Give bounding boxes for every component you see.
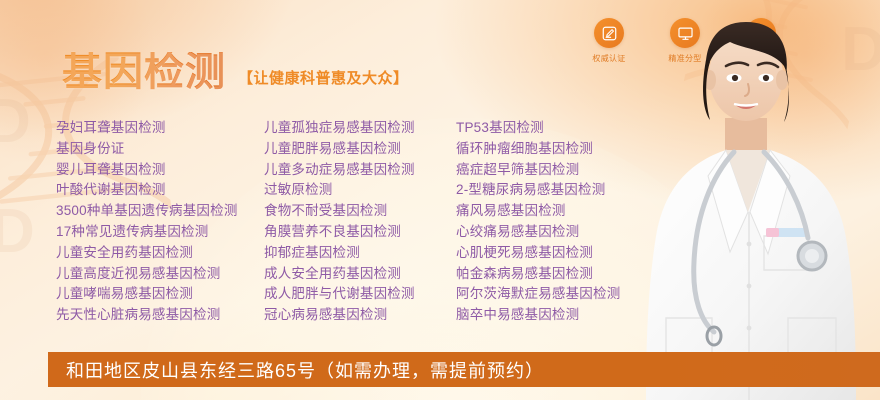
monitor-screen-icon	[670, 18, 700, 48]
list-item: 成人肥胖与代谢基因检测	[264, 284, 456, 305]
feature-badge-selfcheck[interactable]: 轻松自检	[734, 18, 788, 64]
list-item: 抑郁症基因检测	[264, 243, 456, 264]
list-item: 脑卒中易感基因检测	[456, 305, 686, 326]
list-item: 心绞痛易感基因检测	[456, 222, 686, 243]
list-item: 先天性心脏病易感基因检测	[56, 305, 264, 326]
test-item-columns: 孕妇耳聋基因检测 基因身份证 婴儿耳聋基因检测 叶酸代谢基因检测 3500种单基…	[56, 118, 686, 326]
page-title: 基因检测	[62, 52, 226, 92]
list-item: 痛风易感基因检测	[456, 201, 686, 222]
list-item: 阿尔茨海默症易感基因检测	[456, 284, 686, 305]
list-item: 冠心病易感基因检测	[264, 305, 456, 326]
list-item: 循环肿瘤细胞基因检测	[456, 139, 686, 160]
list-item: 儿童肥胖易感基因检测	[264, 139, 456, 160]
list-item: 儿童哮喘易感基因检测	[56, 284, 264, 305]
list-item: 儿童孤独症易感基因检测	[264, 118, 456, 139]
list-item: 3500种单基因遗传病基因检测	[56, 201, 264, 222]
decor-ghost-letter: D	[841, 14, 880, 85]
feature-badge-certification[interactable]: 权威认证	[582, 18, 636, 64]
list-item: 2-型糖尿病易感基因检测	[456, 180, 686, 201]
list-item: 过敏原检测	[264, 180, 456, 201]
genetic-testing-poster: D D D	[0, 0, 880, 400]
list-item: 叶酸代谢基因检测	[56, 180, 264, 201]
list-item: 儿童多动症易感基因检测	[264, 160, 456, 181]
address-text: 和田地区皮山县东经三路65号（如需办理，需提前预约）	[48, 357, 544, 383]
list-item: 孕妇耳聋基因检测	[56, 118, 264, 139]
list-item: 角膜营养不良基因检测	[264, 222, 456, 243]
decor-ghost-letter: D	[0, 86, 33, 157]
list-item: 食物不耐受基因检测	[264, 201, 456, 222]
list-item: 帕金森病易感基因检测	[456, 264, 686, 285]
document-report-icon	[746, 18, 776, 48]
feature-badge-label: 轻松自检	[744, 53, 777, 64]
list-item: 17种常见遗传病基因检测	[56, 222, 264, 243]
list-item: 儿童安全用药基因检测	[56, 243, 264, 264]
test-item-column: 儿童孤独症易感基因检测 儿童肥胖易感基因检测 儿童多动症易感基因检测 过敏原检测…	[264, 118, 456, 326]
list-item: 癌症超早筛基因检测	[456, 160, 686, 181]
list-item: 婴儿耳聋基因检测	[56, 160, 264, 181]
address-bar: 和田地区皮山县东经三路65号（如需办理，需提前预约）	[48, 352, 880, 387]
feature-badge-label: 权威认证	[592, 53, 625, 64]
test-item-column: 孕妇耳聋基因检测 基因身份证 婴儿耳聋基因检测 叶酸代谢基因检测 3500种单基…	[56, 118, 264, 326]
list-item: TP53基因检测	[456, 118, 686, 139]
feature-badge-label: 精准分型	[668, 53, 701, 64]
test-item-column: TP53基因检测 循环肿瘤细胞基因检测 癌症超早筛基因检测 2-型糖尿病易感基因…	[456, 118, 686, 326]
list-item: 基因身份证	[56, 139, 264, 160]
feature-badge-list: 权威认证 精准分型 轻松自检	[582, 18, 788, 64]
decor-ghost-letter: D	[0, 196, 37, 267]
list-item: 成人安全用药基因检测	[264, 264, 456, 285]
feature-badge-typing[interactable]: 精准分型	[658, 18, 712, 64]
poster-heading: 基因检测 【让健康科普惠及大众】	[62, 52, 409, 92]
page-subtitle: 【让健康科普惠及大众】	[238, 67, 409, 92]
list-item: 心肌梗死易感基因检测	[456, 243, 686, 264]
list-item: 儿童高度近视易感基因检测	[56, 264, 264, 285]
certificate-pen-icon	[594, 18, 624, 48]
